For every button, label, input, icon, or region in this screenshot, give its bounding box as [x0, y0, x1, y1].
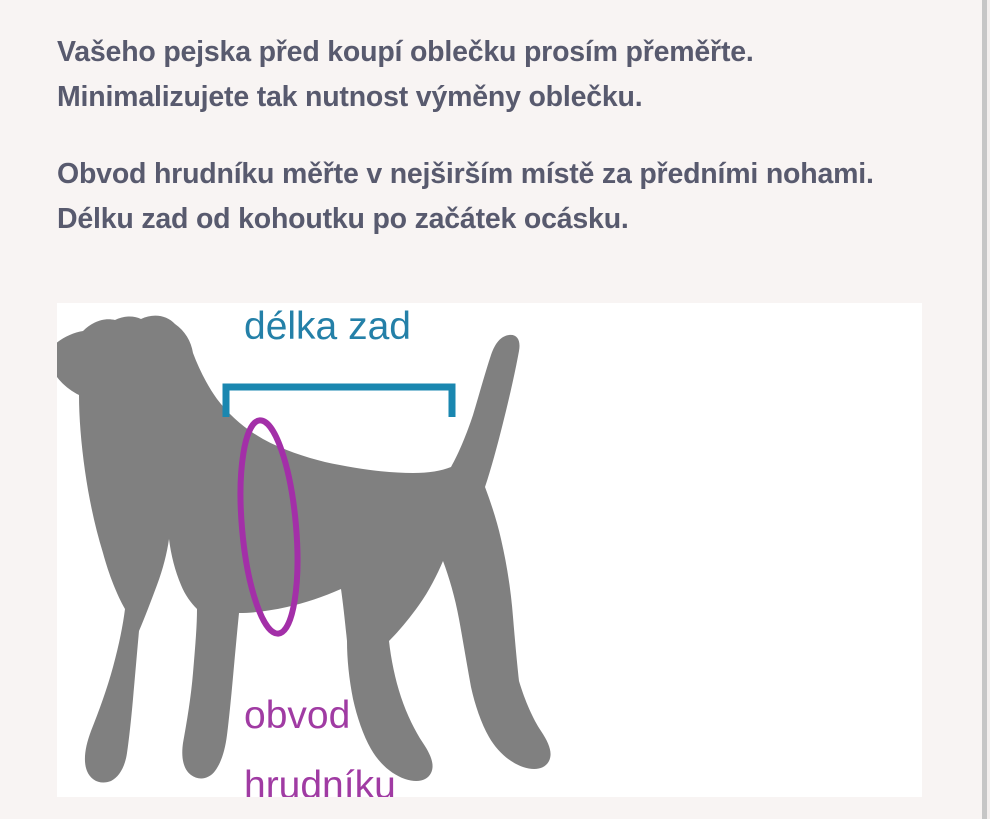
- scrollbar-thumb[interactable]: [982, 0, 987, 819]
- measuring-instructions: Vašeho pejska před koupí oblečku prosím …: [57, 30, 917, 242]
- instruction-paragraph-2: Obvod hrudníku měřte v nejširším místě z…: [57, 152, 917, 242]
- page-content: Vašeho pejska před koupí oblečku prosím …: [0, 0, 982, 819]
- instruction-paragraph-1: Vašeho pejska před koupí oblečku prosím …: [57, 30, 917, 120]
- back-length-label: délka zad: [244, 305, 411, 348]
- chest-girth-label-line-1: obvod: [244, 694, 350, 737]
- dog-measurement-diagram: délka zad obvod hrudníku: [57, 303, 922, 797]
- chest-girth-label-line-2: hrudníku: [244, 764, 396, 797]
- dog-diagram-svg: délka zad obvod hrudníku: [57, 303, 922, 797]
- scrollbar-track[interactable]: [982, 0, 990, 819]
